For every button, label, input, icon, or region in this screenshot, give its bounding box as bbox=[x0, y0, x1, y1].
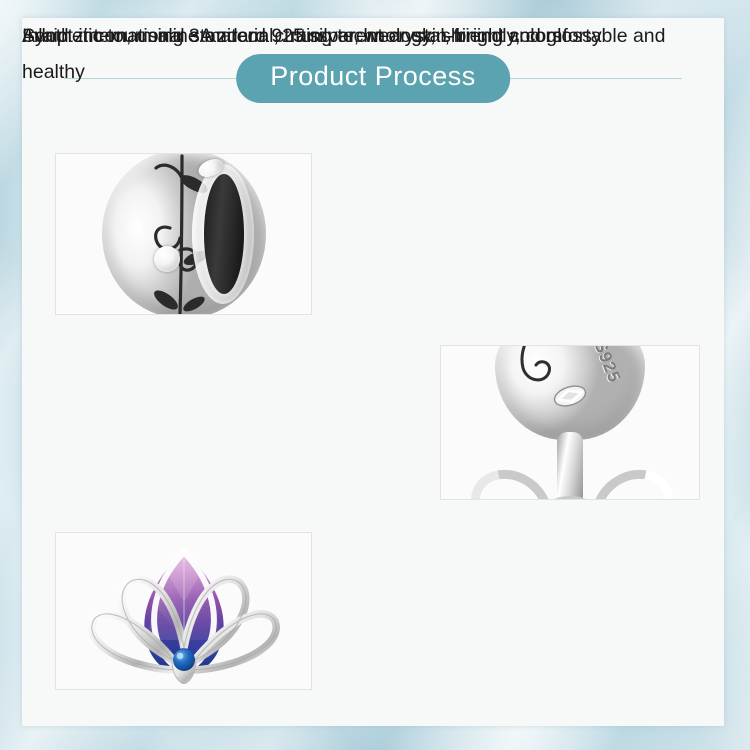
bead-illustration bbox=[102, 153, 266, 315]
product-photo-tourmaline bbox=[56, 533, 311, 689]
chain-link-right bbox=[579, 455, 687, 500]
chain-link-left bbox=[457, 455, 565, 500]
silver-hallmark-stamp: S925 bbox=[590, 345, 625, 386]
product-photo-zircon bbox=[56, 154, 311, 314]
zircon-stone-bottom bbox=[154, 246, 180, 272]
charm-stem bbox=[557, 432, 583, 500]
lotus-charm-illustration bbox=[68, 544, 300, 684]
content-panel: Product Process bbox=[22, 18, 724, 726]
silver-bead-body bbox=[102, 153, 266, 315]
bottom-blue-stone bbox=[172, 649, 196, 684]
feature-text-tourmaline: Synthetic tourmaline material, transpare… bbox=[22, 18, 562, 54]
product-image-frame-zircon bbox=[55, 153, 312, 315]
macro-silver-bead: S925 bbox=[495, 345, 645, 440]
bead-through-hole bbox=[204, 174, 244, 294]
product-image-frame-silver: S925 bbox=[440, 345, 700, 500]
infographic-page: Product Process bbox=[0, 0, 750, 750]
product-photo-silver: S925 bbox=[441, 346, 699, 499]
product-image-frame-tourmaline bbox=[55, 532, 312, 690]
